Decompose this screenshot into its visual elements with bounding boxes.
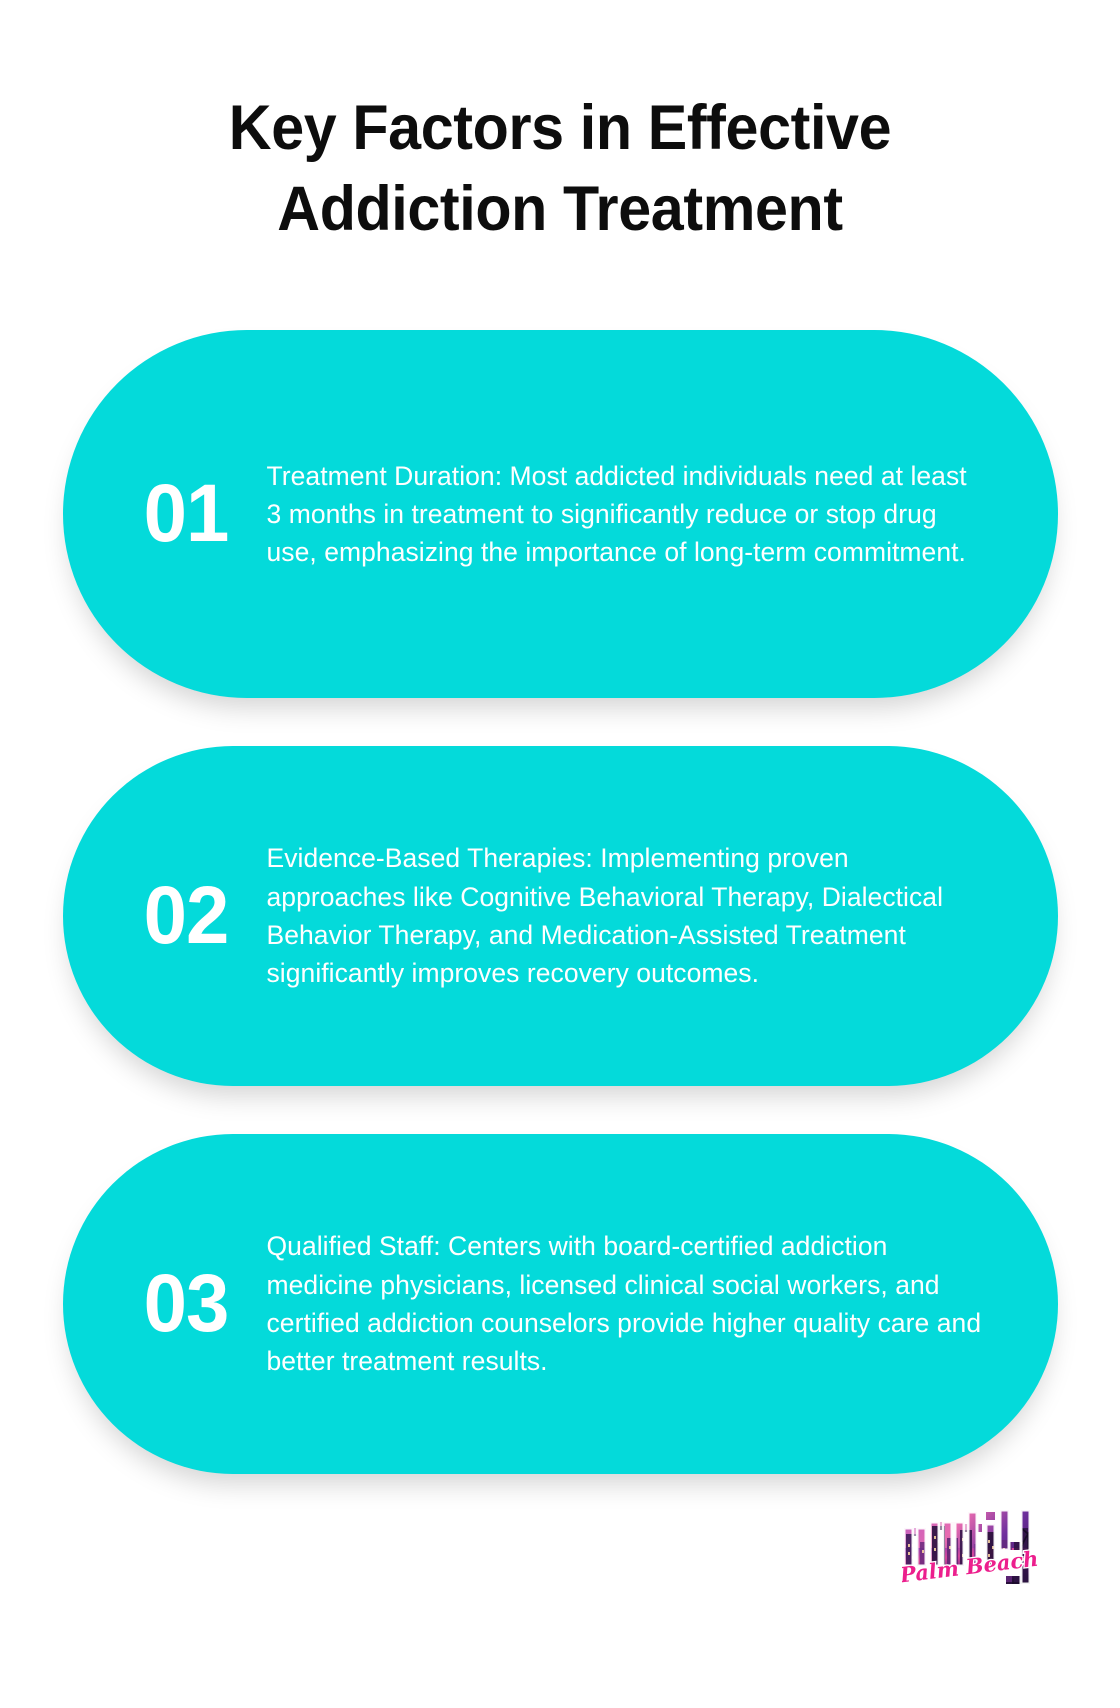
infographic-poster: Key Factors in Effective Addiction Treat… [0,0,1120,1708]
page-title-text: Key Factors in Effective Addiction Treat… [137,88,983,249]
brand-logo: Palm Beach [902,1504,1038,1596]
factor-card-number: 01 [114,473,257,555]
factor-card: 03 Qualified Staff: Centers with board-c… [63,1134,1058,1474]
page-title: Key Factors in Effective Addiction Treat… [0,88,1120,249]
factor-card: 01 Treatment Duration: Most addicted ind… [63,330,1058,698]
factor-card-text: Qualified Staff: Centers with board-cert… [261,1227,984,1380]
factor-card-number: 02 [114,875,257,957]
factor-card-text: Treatment Duration: Most addicted indivi… [261,457,984,572]
factor-card: 02 Evidence-Based Therapies: Implementin… [63,746,1058,1086]
factor-card-text: Evidence-Based Therapies: Implementing p… [261,839,984,992]
factor-card-number: 03 [114,1263,257,1345]
factor-card-list: 01 Treatment Duration: Most addicted ind… [0,330,1120,1522]
amity-palm-beach-logo-icon: Palm Beach [902,1504,1038,1596]
